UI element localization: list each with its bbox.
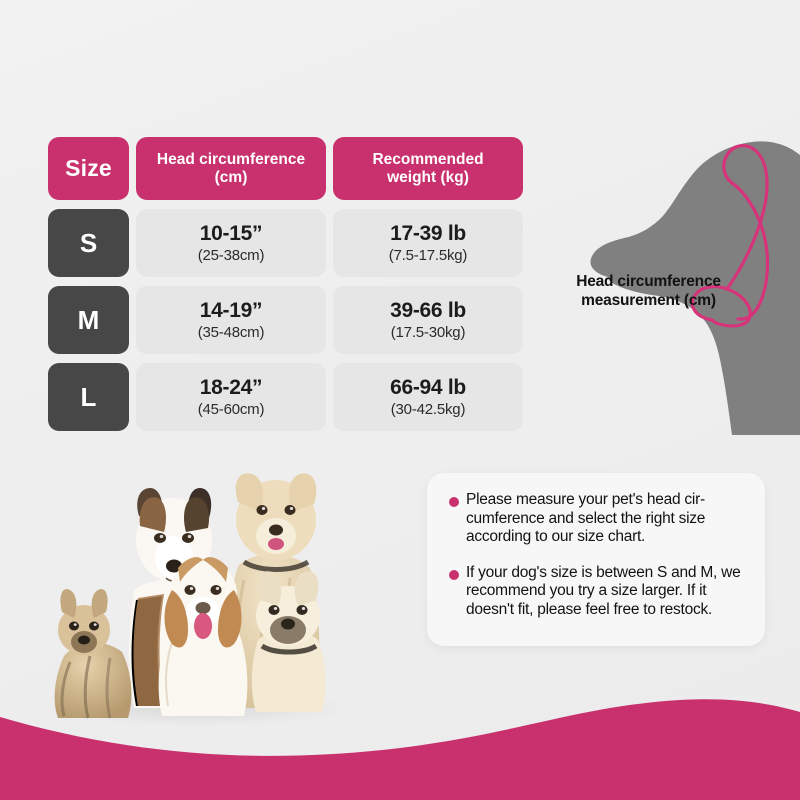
- cell-size-m: M: [48, 286, 129, 354]
- head-measurement-diagram: Head circumference measurement (cm): [546, 105, 800, 435]
- note-text: Please measure your pet's head cir-cumfe…: [466, 491, 743, 547]
- weight-value-lb: 17-39 lb: [390, 222, 466, 246]
- head-value-inches: 18-24”: [200, 376, 262, 400]
- weight-value-kg: (17.5-30kg): [391, 323, 466, 342]
- note-item: Please measure your pet's head cir-cumfe…: [449, 491, 743, 547]
- wave-shape: [0, 699, 800, 800]
- head-value-cm: (35-48cm): [198, 323, 265, 342]
- measurement-label-line2: measurement (cm): [546, 291, 751, 310]
- head-value-cm: (45-60cm): [198, 400, 265, 419]
- table-row: S 10-15” (25-38cm) 17-39 lb (7.5-17.5kg): [48, 209, 524, 277]
- cell-weight-m: 39-66 lb (17.5-30kg): [333, 286, 523, 354]
- size-label: M: [78, 305, 100, 336]
- header-label-size: Size: [65, 155, 112, 182]
- cell-head-circumference-s: 10-15” (25-38cm): [136, 209, 326, 277]
- header-label-weight-line2: weight (kg): [381, 169, 475, 187]
- cell-size-l: L: [48, 363, 129, 431]
- weight-value-lb: 66-94 lb: [390, 376, 466, 400]
- note-item: If your dog's size is between S and M, w…: [449, 564, 743, 620]
- header-label-head-line1: Head circumference: [151, 151, 311, 169]
- bullet-icon: [449, 497, 459, 507]
- notes-card: Please measure your pet's head cir-cumfe…: [427, 473, 765, 646]
- header-cell-size: Size: [48, 137, 129, 200]
- head-value-inches: 14-19”: [200, 299, 262, 323]
- measurement-label-line1: Head circumference: [546, 272, 751, 291]
- weight-value-kg: (30-42.5kg): [391, 400, 466, 419]
- weight-value-kg: (7.5-17.5kg): [389, 246, 467, 265]
- head-value-inches: 10-15”: [200, 222, 262, 246]
- cell-head-circumference-l: 18-24” (45-60cm): [136, 363, 326, 431]
- table-header-row: Size Head circumference (cm) Recommended…: [48, 137, 524, 200]
- cell-weight-s: 17-39 lb (7.5-17.5kg): [333, 209, 523, 277]
- cell-head-circumference-m: 14-19” (35-48cm): [136, 286, 326, 354]
- table-row: L 18-24” (45-60cm) 66-94 lb (30-42.5kg): [48, 363, 524, 431]
- header-cell-recommended-weight: Recommended weight (kg): [333, 137, 523, 200]
- header-label-weight-line1: Recommended: [366, 151, 489, 169]
- header-label-head-line2: (cm): [209, 169, 254, 187]
- header-cell-head-circumference: Head circumference (cm): [136, 137, 326, 200]
- size-label: S: [80, 228, 97, 259]
- cell-weight-l: 66-94 lb (30-42.5kg): [333, 363, 523, 431]
- weight-value-lb: 39-66 lb: [390, 299, 466, 323]
- size-chart-page: Size Head circumference (cm) Recommended…: [0, 0, 800, 800]
- table-row: M 14-19” (35-48cm) 39-66 lb (17.5-30kg): [48, 286, 524, 354]
- note-text: If your dog's size is between S and M, w…: [466, 564, 743, 620]
- bullet-icon: [449, 570, 459, 580]
- bottom-wave-decoration: [0, 670, 800, 800]
- cell-size-s: S: [48, 209, 129, 277]
- head-value-cm: (25-38cm): [198, 246, 265, 265]
- measurement-label: Head circumference measurement (cm): [546, 272, 751, 310]
- size-label: L: [81, 382, 97, 413]
- size-chart-table: Size Head circumference (cm) Recommended…: [48, 137, 524, 431]
